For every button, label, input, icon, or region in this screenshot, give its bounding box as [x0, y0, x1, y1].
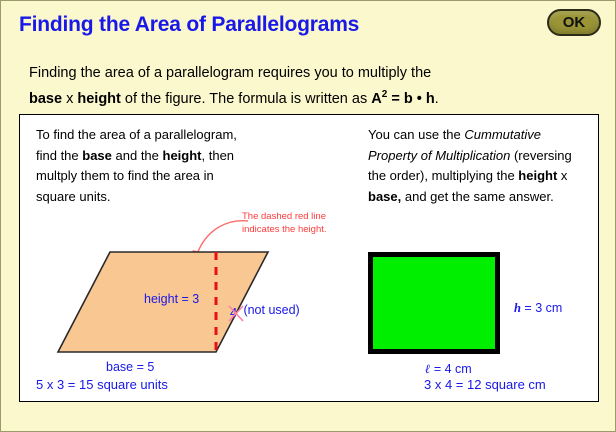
- intro-mid-2: of the figure. The formula is written as: [121, 91, 371, 107]
- page-title: Finding the Area of Parallelograms: [19, 13, 359, 37]
- right-text-part3: x: [557, 168, 567, 183]
- formula-rest: = b • h: [387, 91, 434, 107]
- intro-period: .: [435, 91, 439, 107]
- right-text-bold-base: base,: [368, 189, 401, 204]
- right-answer: 3 x 4 = 12 square cm: [424, 377, 546, 392]
- formula-base: A: [371, 91, 381, 107]
- right-text-part4: and get the same answer.: [401, 189, 553, 204]
- side-note-text: (not used): [243, 303, 299, 317]
- content-box: To find the area of a parallelogram, fin…: [19, 114, 599, 402]
- intro-paragraph: Finding the area of a parallelogram requ…: [29, 63, 589, 110]
- left-text-part2: and the: [112, 148, 163, 163]
- intro-bold-base: base: [29, 91, 62, 107]
- rectangle-length-label: ℓ = 4 cm: [425, 362, 472, 377]
- rectangle-height-label: h = 3 cm: [514, 301, 562, 316]
- right-text-part1: You can use the: [368, 127, 464, 142]
- intro-mid-1: x: [62, 91, 77, 107]
- length-value: = 4 cm: [430, 362, 471, 376]
- height-symbol: h: [514, 301, 521, 315]
- left-text-bold-height: height: [163, 148, 202, 163]
- parallelogram-base-label: base = 5: [106, 360, 154, 374]
- right-panel-text: You can use the Cummutative Property of …: [368, 125, 583, 207]
- left-answer: 5 x 3 = 15 square units: [36, 377, 168, 392]
- intro-formula: A2 = b • h: [371, 91, 434, 107]
- crossed-out-four: 4: [228, 301, 248, 323]
- ok-button[interactable]: OK: [547, 9, 601, 36]
- red-annotation-text: The dashed red line indicates the height…: [242, 211, 340, 236]
- left-text-bold-base: base: [82, 148, 112, 163]
- lesson-slide: Finding the Area of Parallelograms OK Fi…: [0, 0, 616, 432]
- right-text-bold-height: height: [518, 168, 557, 183]
- intro-bold-height: height: [77, 91, 121, 107]
- intro-line-1: Finding the area of a parallelogram requ…: [29, 65, 431, 81]
- green-rectangle-shape: [368, 252, 500, 354]
- left-panel-text: To find the area of a parallelogram, fin…: [36, 125, 241, 207]
- height-value: = 3 cm: [521, 301, 562, 315]
- parallelogram-height-label: height = 3: [144, 292, 199, 306]
